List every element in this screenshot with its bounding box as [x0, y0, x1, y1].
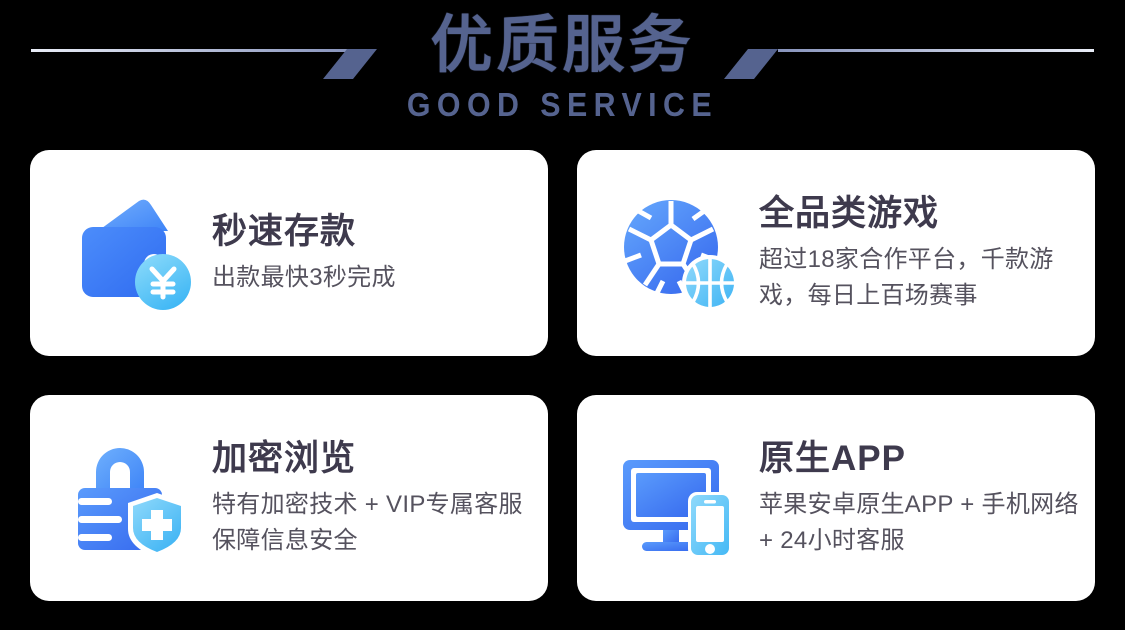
page-title-cn: 优质服务: [0, 8, 1125, 84]
service-card-grid: 秒速存款 出款最快3秒完成: [30, 150, 1095, 601]
soccer-basketball-icon: [611, 185, 747, 321]
service-card-games[interactable]: 全品类游戏 超过18家合作平台，千款游戏，每日上百场赛事: [577, 150, 1095, 356]
card-title: 秒速存款: [212, 210, 530, 254]
page-header: 优质服务 GOOD SERVICE: [0, 0, 1125, 140]
service-card-native-app[interactable]: 原生APP 苹果安卓原生APP + 手机网络 + 24小时客服: [577, 395, 1095, 601]
monitor-phone-icon: [611, 430, 747, 566]
service-card-deposit[interactable]: 秒速存款 出款最快3秒完成: [30, 150, 548, 356]
lock-shield-icon: [64, 430, 200, 566]
card-title: 原生APP: [759, 437, 1087, 481]
header-title-block: 优质服务 GOOD SERVICE: [0, 8, 1125, 124]
page-title-en: GOOD SERVICE: [45, 86, 1080, 124]
card-text-block: 全品类游戏 超过18家合作平台，千款游戏，每日上百场赛事: [759, 192, 1095, 314]
card-text-block: 加密浏览 特有加密技术 + VIP专属客服保障信息安全: [212, 437, 548, 559]
card-subtitle: 出款最快3秒完成: [212, 260, 530, 296]
card-title: 加密浏览: [212, 437, 540, 481]
card-title: 全品类游戏: [759, 192, 1087, 236]
card-text-block: 秒速存款 出款最快3秒完成: [212, 210, 548, 296]
wallet-yen-icon: [64, 185, 200, 321]
card-text-block: 原生APP 苹果安卓原生APP + 手机网络 + 24小时客服: [759, 437, 1095, 559]
service-card-encryption[interactable]: 加密浏览 特有加密技术 + VIP专属客服保障信息安全: [30, 395, 548, 601]
card-subtitle: 苹果安卓原生APP + 手机网络 + 24小时客服: [759, 487, 1087, 559]
card-subtitle: 特有加密技术 + VIP专属客服保障信息安全: [212, 487, 540, 559]
card-subtitle: 超过18家合作平台，千款游戏，每日上百场赛事: [759, 242, 1087, 314]
